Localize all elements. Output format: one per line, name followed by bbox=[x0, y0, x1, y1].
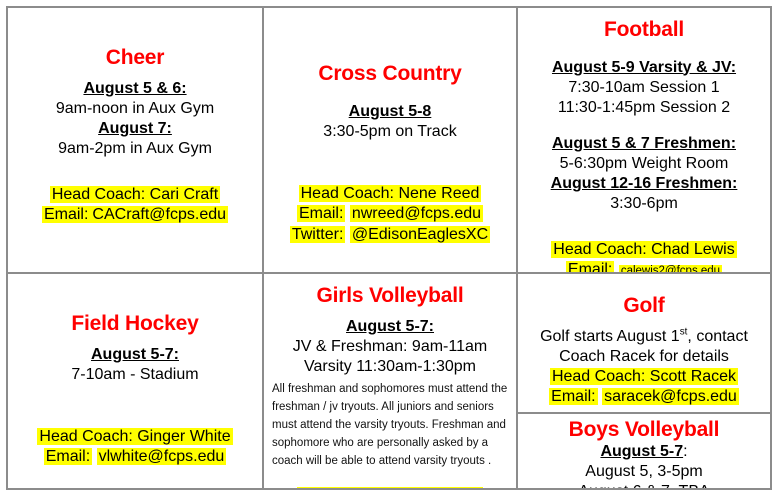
football-email-address[interactable]: calewis2@fcps.edu bbox=[619, 265, 722, 274]
golf-email-address[interactable]: saracek@fcps.edu bbox=[602, 388, 739, 405]
girls-volleyball-coach-line: Head Coach: Briana Ford bbox=[270, 486, 510, 488]
football-spacer-1 bbox=[524, 42, 764, 58]
cheer-spacer-2 bbox=[14, 159, 256, 185]
cross-country-twitter-label: Twitter: bbox=[290, 226, 346, 243]
golf-detail-2: Coach Racek for details bbox=[524, 347, 764, 367]
boys-volleyball-date-1-colon: : bbox=[683, 443, 687, 460]
cheer-title: Cheer bbox=[14, 46, 256, 70]
field-hockey-date-1: August 5-7: bbox=[14, 345, 256, 365]
cross-country-email-label: Email: bbox=[297, 205, 345, 222]
cross-country-twitter-handle[interactable]: @EdisonEaglesXC bbox=[350, 226, 490, 243]
field-hockey-title: Field Hockey bbox=[14, 312, 256, 336]
field-hockey-email-line: Email: vlwhite@fcps.edu bbox=[14, 447, 256, 468]
xc-spacer-2 bbox=[270, 142, 510, 168]
golf-email-label: Email: bbox=[549, 388, 597, 405]
cross-country-coach-line: Head Coach: Nene Reed bbox=[270, 184, 510, 205]
football-detail-4: 3:30-6pm bbox=[524, 194, 764, 214]
girls-volleyball-date-1: August 5-7: bbox=[270, 317, 510, 337]
xc-top-spacer-b bbox=[270, 46, 510, 62]
boys-volleyball-date-1-underlined: August 5-7 bbox=[600, 443, 683, 460]
fh-top-spacer bbox=[14, 278, 256, 312]
golf-top-spacer bbox=[524, 278, 764, 294]
cheer-email-label: Email: bbox=[42, 206, 90, 223]
cross-country-twitter-line: Twitter: @EdisonEaglesXC bbox=[270, 225, 510, 246]
boys-volleyball-title: Boys Volleyball bbox=[524, 418, 764, 442]
girls-volleyball-fineprint: All freshman and sophomores must attend … bbox=[272, 380, 508, 471]
cross-country-coach-label: Head Coach: Nene Reed bbox=[299, 185, 482, 202]
cheer-coach-line: Head Coach: Cari Craft bbox=[14, 185, 256, 206]
golf-detail-1: Golf starts August 1st, contact bbox=[524, 327, 764, 347]
football-detail-3: 5-6:30pm Weight Room bbox=[524, 154, 764, 174]
boys-volleyball-date-1: August 5-7: bbox=[524, 442, 764, 462]
cheer-coach-label: Head Coach: Cari Craft bbox=[50, 186, 220, 203]
cell-football: Football August 5-9 Varsity & JV: 7:30-1… bbox=[518, 8, 770, 274]
cell-girls-volleyball: Girls Volleyball August 5-7: JV & Freshm… bbox=[264, 274, 518, 488]
golf-coach-line: Head Coach: Scott Racek bbox=[524, 367, 764, 388]
football-detail-2: 11:30-1:45pm Session 2 bbox=[524, 98, 764, 118]
xc-spacer-3 bbox=[270, 168, 510, 184]
cross-country-email-address[interactable]: nwreed@fcps.edu bbox=[350, 205, 483, 222]
field-hockey-detail-1: 7-10am - Stadium bbox=[14, 365, 256, 385]
subcell-boys-volleyball: Boys Volleyball August 5-7: August 5, 3-… bbox=[518, 414, 770, 488]
sports-tryout-schedule-page: Cheer August 5 & 6: 9am-noon in Aux Gym … bbox=[0, 0, 780, 498]
golf-email-line: Email: saracek@fcps.edu bbox=[524, 387, 764, 408]
golf-coach-label: Head Coach: Scott Racek bbox=[550, 368, 738, 385]
cheer-email-line: Email:CACraft@fcps.edu bbox=[14, 205, 256, 226]
golf-title: Golf bbox=[524, 294, 764, 318]
field-hockey-coach-label: Head Coach: Ginger White bbox=[37, 428, 232, 445]
football-coach-label: Head Coach: Chad Lewis bbox=[551, 241, 736, 258]
field-hockey-coach-line: Head Coach: Ginger White bbox=[14, 427, 256, 448]
football-coach-line: Head Coach: Chad Lewis bbox=[524, 240, 764, 261]
girls-volleyball-detail-2: Varsity 11:30am-1:30pm bbox=[270, 357, 510, 377]
xc-spacer-1 bbox=[270, 86, 510, 102]
fh-spacer-3 bbox=[14, 411, 256, 427]
football-email-line: Email: calewis2@fcps.edu bbox=[524, 260, 764, 274]
fh-spacer-2 bbox=[14, 385, 256, 411]
football-spacer-3 bbox=[524, 214, 764, 240]
field-hockey-email-label: Email: bbox=[44, 448, 92, 465]
boys-volleyball-detail-1: August 5, 3-5pm bbox=[524, 462, 764, 482]
field-hockey-email-address[interactable]: vlwhite@fcps.edu bbox=[97, 448, 227, 465]
xc-top-spacer-a bbox=[270, 12, 510, 46]
football-email-label: Email: bbox=[566, 261, 614, 274]
football-spacer-2 bbox=[524, 118, 764, 134]
fh-spacer-1 bbox=[14, 336, 256, 345]
gv-spacer-2 bbox=[270, 470, 510, 486]
football-detail-1: 7:30-10am Session 1 bbox=[524, 78, 764, 98]
cheer-detail-2: 9am-2pm in Aux Gym bbox=[14, 139, 256, 159]
cross-country-email-line: Email: nwreed@fcps.edu bbox=[270, 204, 510, 225]
gv-spacer-1 bbox=[270, 308, 510, 317]
cheer-date-2: August 7: bbox=[14, 119, 256, 139]
girls-volleyball-title: Girls Volleyball bbox=[270, 284, 510, 308]
subcell-golf: Golf Golf starts August 1st, contact Coa… bbox=[518, 274, 770, 414]
football-date-1: August 5-9 Varsity & JV: bbox=[524, 58, 764, 78]
cheer-top-spacer bbox=[14, 12, 256, 46]
cheer-spacer-1 bbox=[14, 70, 256, 79]
football-date-2: August 5 & 7 Freshmen: bbox=[524, 134, 764, 154]
cell-golf-boys-volleyball: Golf Golf starts August 1st, contact Coa… bbox=[518, 274, 770, 488]
boys-volleyball-detail-2: August 6 & 7, TBA bbox=[524, 482, 764, 488]
cell-cheer: Cheer August 5 & 6: 9am-noon in Aux Gym … bbox=[8, 8, 264, 274]
cheer-date-1: August 5 & 6: bbox=[14, 79, 256, 99]
cross-country-title: Cross Country bbox=[270, 62, 510, 86]
golf-spacer-1 bbox=[524, 318, 764, 327]
schedule-table: Cheer August 5 & 6: 9am-noon in Aux Gym … bbox=[6, 6, 772, 490]
cross-country-date-1: August 5-8 bbox=[270, 102, 510, 122]
golf-detail-1-pre: Golf starts August 1 bbox=[540, 328, 680, 345]
cross-country-detail-1: 3:30-5pm on Track bbox=[270, 122, 510, 142]
cheer-detail-1: 9am-noon in Aux Gym bbox=[14, 99, 256, 119]
girls-volleyball-detail-1: JV & Freshman: 9am-11am bbox=[270, 337, 510, 357]
cheer-email-address[interactable]: CACraft@fcps.edu bbox=[90, 206, 228, 223]
football-title: Football bbox=[524, 18, 764, 42]
girls-volleyball-coach-label: Head Coach: Briana Ford bbox=[297, 487, 482, 488]
cell-cross-country: Cross Country August 5-8 3:30-5pm on Tra… bbox=[264, 8, 518, 274]
football-date-3: August 12-16 Freshmen: bbox=[524, 174, 764, 194]
cell-field-hockey: Field Hockey August 5-7: 7-10am - Stadiu… bbox=[8, 274, 264, 488]
golf-detail-1-post: , contact bbox=[687, 328, 747, 345]
